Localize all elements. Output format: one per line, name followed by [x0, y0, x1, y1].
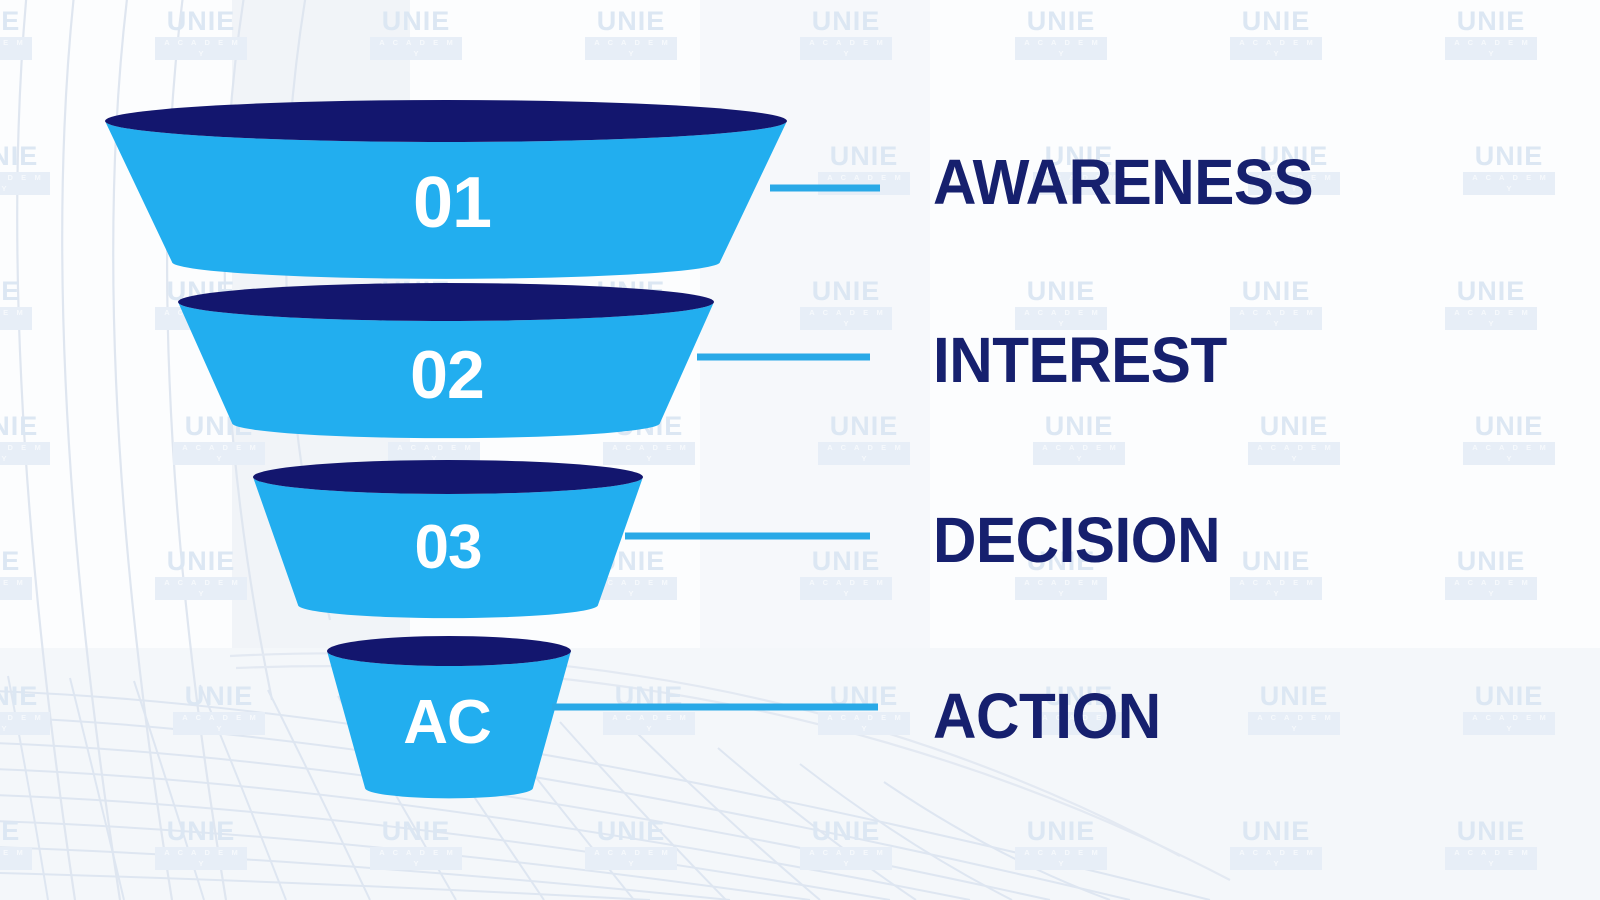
funnel-step-number-4: AC: [403, 692, 491, 754]
stage-label-decision[interactable]: DECISION: [933, 508, 1220, 572]
infographic-canvas: UNIEA C A D E M YUNIEA C A D E M YUNIEA …: [0, 0, 1600, 900]
stage-label-interest[interactable]: INTEREST: [933, 328, 1227, 392]
stage-label-action[interactable]: ACTION: [933, 684, 1161, 748]
funnel-step-number-1: 01: [413, 167, 491, 239]
funnel-step-number-3: 03: [415, 517, 482, 579]
stage-label-awareness[interactable]: AWARENESS: [933, 150, 1313, 214]
labels-layer: 01AWARENESS02INTEREST03DECISIONACACTION: [0, 0, 1600, 900]
funnel-step-number-2: 02: [410, 341, 484, 409]
